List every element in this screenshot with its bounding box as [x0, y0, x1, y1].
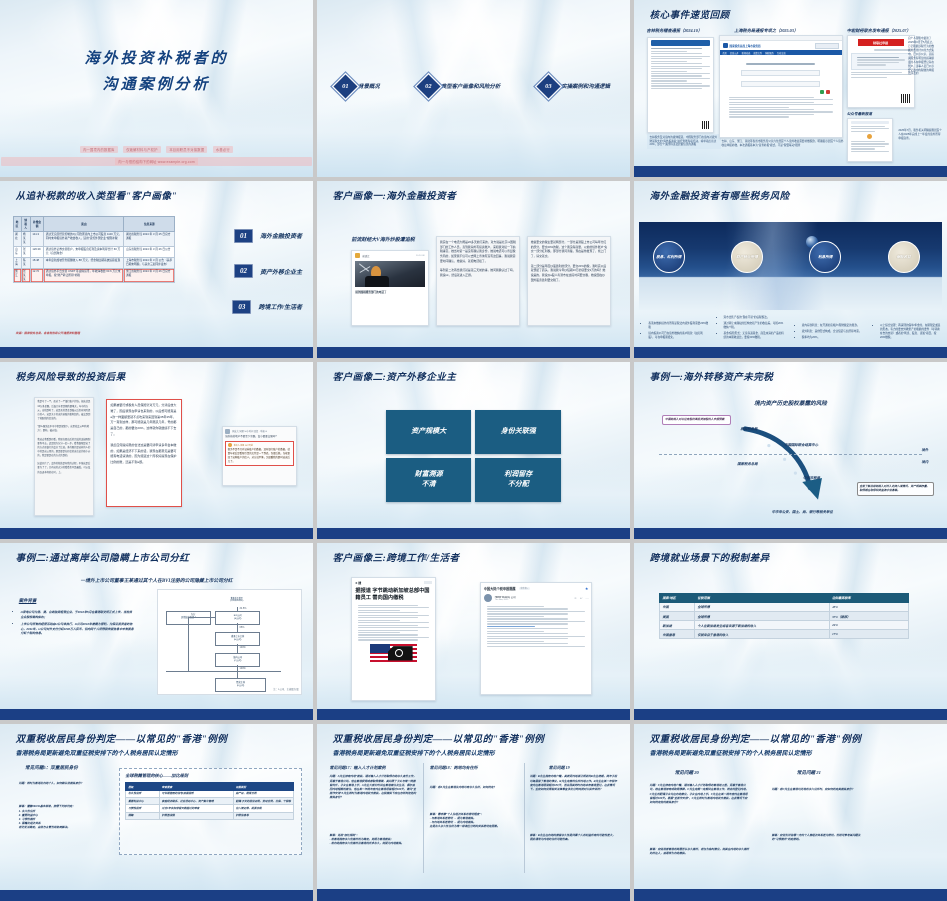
- th-reason: 案由: [44, 217, 124, 232]
- cell-country: 中国: [660, 602, 695, 611]
- cell-reason: 通过无实质经营控制的J公司隐匿境内上市公司股息 1100 万元，同时未申报境外资…: [44, 232, 124, 247]
- slide-case-one[interactable]: 事例一:海外转移资产未完税 境内资产历史股权暴露的风险 原国税务局 中国国际联合…: [634, 362, 947, 539]
- cell-level: 习惯性居所: [126, 805, 160, 812]
- article-brand: X 搜: [355, 581, 361, 585]
- slide-footer-bar: [0, 709, 313, 721]
- slide-footer-bar: [317, 709, 630, 721]
- bullet: H家电公司为港、澳、台商独资经营企业，于2010年5月在香港联交所正式上市，当前…: [21, 610, 135, 619]
- node-label-1: 原国税务局: [740, 426, 757, 431]
- trait-box-4[interactable]: 利润留存 不分配: [475, 458, 561, 502]
- table-row: 湖北 杨某某 141.3 通过无实质经营控制的J公司隐匿境内上市公司股息 110…: [13, 232, 175, 247]
- table-row: 习惯性居所 过去3年实际停留天数超过的审查 出入境记录、机票存根: [126, 805, 294, 812]
- flow-node-3: 境内公司 (C公司): [215, 653, 260, 668]
- bullet: 境内存款利息：在开通的高端户/理财额定的账款。: [802, 324, 863, 328]
- testimony-text-1: 我实在一个电话大概是20多天前打来的，对方说是北京xx国税部门的工作人员，直到我…: [440, 240, 517, 278]
- avatar: [484, 594, 492, 602]
- cell-scope: 全球所得: [694, 611, 829, 620]
- cell-criteria: 可长期使用的住宅/房屋居所: [159, 791, 233, 798]
- qa-answer-2: 解答：应优先评估哪一方的个人居经济关系更为密切，否则可参考其问题及的"习惯居所"…: [772, 834, 866, 842]
- cell-scope: 全球所得: [694, 602, 829, 611]
- cell-source: 湖北省税务局 2024 年 3 月 25 日官方通报: [124, 232, 175, 247]
- bullet: 港市出售产权的"现在不易"的征税税法。: [724, 316, 785, 320]
- email-date: Thu Nov, 2025: [495, 599, 516, 601]
- boundary-inside-label: 境内: [921, 459, 928, 464]
- cell-country: 新加坡: [660, 621, 695, 630]
- bullet: 香港未缴纳境外的所得是税法内境外股利需要20%缴税: [648, 322, 709, 330]
- trait-box-grid: 资产规模大 身份关联强 财富溯源 不清 利润留存 不分配: [386, 410, 561, 502]
- cover-tag-3: 水基必行: [213, 146, 233, 153]
- cell-evidence: 房产证、租赁合同: [233, 791, 294, 798]
- table-header-row: 地区 纳税人 补缴金额 案由 信息来源: [13, 217, 175, 232]
- cell-amount: 12.72: [30, 268, 43, 283]
- profile-number-2[interactable]: 02 资产外移企业主: [234, 264, 302, 278]
- slide-dual-residence-1[interactable]: 双重税收居民身份判定——以常见的"香港"例例 香港税务局更新避免双重征税安排下的…: [0, 724, 313, 901]
- table-header-row: 国家/地区 征税范围 边际最高税率: [660, 593, 909, 602]
- qa-heading-2: 常见问题 21: [797, 770, 821, 776]
- slide-subtitle: 香港税务局更新避免双重征税安排下的个人税务居民认定情形: [333, 748, 495, 757]
- slide-title: 双重税收居民身份判定——以常见的"香港"例例: [16, 731, 228, 745]
- qa-answer: 解答：遵循OECD基本标准，按照下列序列定： 1. 永久性住所 2. 重要利益中…: [19, 805, 107, 830]
- cover-title-line2: 沟通案例分析: [0, 72, 313, 98]
- qa-question-1: 问题：A先生持有内地"居民，通过输入人才计划取得内地永久身份工作，受雇于香港公司…: [330, 775, 418, 800]
- cover-tag-1: 仅破解材料与产权护: [123, 146, 160, 153]
- flow-node-top: 董事长王某甲 (中国税务居民): [215, 594, 258, 607]
- news-col1-heading: 吉林税务稽查通报（2024.10）: [647, 28, 703, 34]
- agenda-num-1: 01: [342, 83, 349, 90]
- risk-circle-1[interactable]: 股息、红利所得: [653, 241, 685, 273]
- column-divider: [423, 763, 424, 873]
- note-left-text: 我是号了一个，而对了一个银行账户的钱，损失就是10万多差额，后面几年里到期的那笔…: [37, 400, 90, 474]
- th-rate: 边际最高税率: [829, 593, 909, 602]
- cell-scope: 个人在新加坡发生或者来源于新加坡的收入: [694, 621, 829, 630]
- number-label: 跨境工作/生活者: [258, 302, 302, 311]
- slide-footer-bar: [0, 347, 313, 359]
- article-headline: 据报道 字节跳动新加坡总部中国籍员工 需向国内缴税: [355, 588, 432, 602]
- border-divider: [659, 454, 922, 455]
- slide-title: 客户画像三:跨境工作/生活者: [333, 550, 460, 564]
- cell-evidence: 出入境记录、机票存根: [233, 805, 294, 812]
- slide-footer-bar: [317, 347, 630, 359]
- bullet: 税率均为20%。: [802, 336, 863, 340]
- edge-label-1: 34.5%: [240, 607, 247, 610]
- article-screenshot[interactable]: 前流汇 10-24 08 接到国税稽查部门的电话了: [351, 250, 428, 326]
- agenda-item-3[interactable]: 03 实操案例和沟通逻辑: [540, 78, 610, 95]
- article-title: 前流财经大V海外炒股遭追税: [351, 236, 414, 243]
- th-criteria: 审查要素: [159, 783, 233, 791]
- agenda-item-2[interactable]: 02 典型客户画像和风险分析: [420, 78, 500, 95]
- trait-box-2[interactable]: 身份关联强: [475, 410, 561, 454]
- column-divider: [524, 763, 525, 873]
- more-icon[interactable]: ⋯: [585, 596, 588, 600]
- node-label-2: 中国国际联合结算中心: [784, 442, 818, 447]
- cell-reason: 通过境外平台交易 USDT 等虚拟货币，年收净收益 63.6 万元未申报，按"财…: [44, 268, 124, 283]
- cell-rate: 17%: [829, 630, 909, 639]
- slide-title: 客户画像一:海外金融投资者: [333, 188, 457, 202]
- diamond-icon: 01: [334, 74, 358, 98]
- news-side-text: 自个人理税中最新了2025年6月至5月底止，万亿税额涉税行为的数据用费用计价的方…: [905, 35, 939, 78]
- table-row: 新加坡 个人在新加坡发生或者来源于新加坡的收入 24%: [660, 621, 909, 630]
- cell-taxpayer: 杨某某: [21, 232, 30, 247]
- th-country: 国家/地区: [660, 593, 695, 602]
- tax-cases-table: 地区 纳税人 补缴金额 案由 信息来源 湖北 杨某某 141.3 通过无实质经营…: [13, 216, 176, 283]
- table-row: 山东 张某 126.39 通过境外证券交易账户，未申报股息红利及资本利得合计 6…: [13, 247, 175, 258]
- edge-label-2: 65%: [240, 626, 245, 629]
- cell-criteria: 护照签发国: [159, 812, 233, 819]
- th-taxpayer: 纳税人: [21, 217, 30, 232]
- news-caption-1: 吉林税务及对境内的媒体报道，中国税务部门在境内对境外财富积大的"海外投资者"进行…: [647, 134, 722, 150]
- news-screenshot-2[interactable]: 国家税务总局上海市税务局 首页信息公开 新闻动态政策文件 纳税服务互动交流: [719, 35, 843, 138]
- flow-node-1: BVI公司 (E公司): [215, 611, 260, 626]
- th-evidence: 证据类型: [233, 783, 294, 791]
- residency-rules-table: 层级 审查要素 证据类型 永久性住所 可长期使用的住宅/房屋居所 房产证、租赁合…: [125, 782, 294, 819]
- cell-amount: 141.3: [30, 232, 43, 247]
- agenda-num-3: 03: [546, 83, 553, 90]
- slide-risk-types[interactable]: 海外金融投资者有哪些税务风险 股息、红利所得 财产转让所得 利息所得 保险收益 …: [634, 181, 947, 358]
- article-source: 前流汇: [362, 254, 369, 258]
- cell-amount: 18.48: [30, 257, 43, 268]
- cell-source: 浙江省税务局 2024 年 3 月 26 日官方通报: [124, 268, 175, 283]
- profile-number-1[interactable]: 01 海外金融投资者: [234, 229, 302, 243]
- cell-source: 上海市税务局 2024 年 3 月 公告（其承日期未明确，与其余三起同步发布）: [124, 257, 175, 268]
- cell-rate: 24%: [829, 621, 909, 630]
- risk-circle-4[interactable]: 保险收益: [888, 241, 920, 273]
- cell-level: 重要利益中心: [126, 798, 160, 805]
- slide-deck: 海外投资补税者的 沟通案例分析 内一国境内的数据库 仅破解材料与产权护 本目用职…: [0, 0, 947, 901]
- edge-label-0: 当分: [191, 612, 196, 616]
- qa-heading-2: 常见问题18：两地均有住所: [430, 765, 478, 771]
- qa-question-1: 问题：C先生持有内地户籍，通过输入人才计划取得的香港进工签，受雇于香港公司，她在…: [650, 784, 750, 805]
- news-caption-2: 吉林、山东、浙江、湖北等各省市税务局公示六位居民个人境外收益需要补缴税款，明确提…: [719, 138, 847, 150]
- flag-image: [370, 644, 417, 662]
- cell-taxpayer: 张某: [21, 247, 30, 258]
- cell-taxpayer: 陈某: [21, 257, 30, 268]
- callout-left: 中国纳税人对以往有股利率投资持股的人申报预缴: [662, 415, 731, 425]
- slide-title: 从追补税款的收入类型看"客户画像": [16, 188, 178, 202]
- bullet: 境外利息：其他形式构成，企业借贷与信所得均需。: [802, 330, 863, 334]
- cover-tag-2: 本目用职员不对接数据: [166, 146, 207, 153]
- cell-level: 永久性住所: [126, 791, 160, 798]
- avatar: [228, 443, 232, 447]
- article-date: 10-24 08: [416, 255, 425, 257]
- cell-reason: 本年度新加坡劳务报酬收入 88 万元，经金税四期系统追踪发现: [44, 257, 124, 268]
- qa-heading-1: 常见问题 20: [675, 770, 699, 776]
- qa-question-3: 问题：B先生拥有内地户籍，其原受内地浙江明证的B先生结婚，两年子后均每届留了香港…: [530, 775, 618, 792]
- case-bullets: H家电公司为港、澳、台商独资经营企业，于2010年5月在香港联交所正式上市，当前…: [16, 610, 135, 638]
- slide-footer-bar: [634, 166, 947, 178]
- diamond-icon: 03: [537, 74, 561, 98]
- slide-footer-bar: [634, 528, 947, 540]
- risk-bullets-4: 以上综合处理：再清理的保单/年金的，在期限定或是的形态，有力的要交外教里产的税额…: [875, 324, 941, 342]
- cell-criteria: 家庭经济联系、社会活动中心、资产集中管理: [159, 798, 233, 805]
- flow-node-left: 其他境外投资人: [166, 611, 211, 626]
- news-screenshot-4[interactable]: [847, 118, 893, 162]
- bullet: 通过转让未确权的结构交易产生的收益差，可按20%缴纳个税。: [724, 322, 785, 330]
- cell-level: 国籍: [126, 812, 160, 819]
- news-caption-3: 2025年7月，税务机关明确提醒居民个人在2025年完成上一年度的境外所得申报自…: [895, 127, 945, 143]
- slide-dual-residence-2[interactable]: 双重税收居民身份判定——以常见的"香港"例例 香港税务局更新避免双重征税安排下的…: [317, 724, 630, 901]
- qa-heading-1: 常见问题17：输入人才计划案例: [330, 765, 386, 771]
- cell-evidence: 配偶/子女的居住证明、劳动合同、社保、个税等: [233, 798, 294, 805]
- slide-footer-bar: [634, 889, 947, 901]
- slide-title: 跨境就业场景下的税制差异: [650, 550, 770, 564]
- risk-bullets-3: 境内存款利息：在开通的高端户/理财额定的账款。 境外利息：其他形式构成，企业借贷…: [797, 324, 863, 342]
- table-row: 上海 陈某 18.48 本年度新加坡劳务报酬收入 88 万元，经金税四期系统追踪…: [13, 257, 175, 268]
- slide-news-review[interactable]: 核心事件速览回顾 吉林税务稽查通报（2024.10） 上海税务局通报专项之（20…: [634, 0, 947, 177]
- news-screenshot-1[interactable]: [647, 37, 715, 133]
- slide-profile-three[interactable]: 客户画像三:跨境工作/生活者 X 搜 据报道 字节跳动新加坡总部中国籍员工 需向…: [317, 543, 630, 720]
- cell-taxpayer: 张某某: [21, 268, 30, 283]
- emoji-icon[interactable]: ☺: [574, 596, 577, 600]
- tax-rate-table: 国家/地区 征税范围 边际最高税率 中国 全球所得 45% 美国 全球所得 37…: [659, 593, 909, 640]
- slide-footer-bar: [317, 528, 630, 540]
- case-subtitle: 一境外上市公司董事王某通过其个人在BVI注册的公司隐藏上市公司分红: [0, 577, 313, 584]
- number-label: 资产外移企业主: [260, 267, 302, 276]
- qr-code-icon: [901, 94, 910, 103]
- slide-title: 双重税收居民身份判定——以常见的"香港"例例: [333, 731, 545, 745]
- bullet: 上市公司所有的经营活动由H公司来执行，H公司2010年被裁为营利，为保证投资者的…: [21, 622, 135, 636]
- qa-heading: 常见问题5：双重居民身份: [25, 765, 78, 771]
- cover-title-line1: 海外投资补税者的: [0, 46, 313, 72]
- slide-footer-bar: [0, 528, 313, 540]
- article-caption: 接到国税稽查部门的电话了: [352, 288, 427, 296]
- number-badge: 03: [232, 300, 251, 314]
- table-row: 中国香港 仅就来自于香港的收入 17%: [660, 630, 909, 639]
- cell-region: 湖北: [13, 232, 21, 247]
- qa-answer-1: 解答：应适用首香港的两层否认永久居所，若仅为临时居住，则其在内地的永久居所的所在…: [650, 848, 750, 856]
- slide-footer-bar: [317, 889, 630, 901]
- profile-number-3[interactable]: 03 跨境工作/生活者: [232, 300, 302, 314]
- agenda-list: 01 背景概况 02 典型客户画像和风险分析 03 实操案例和沟通逻辑: [317, 78, 630, 95]
- note-right-answer: 税务不是不只有证券账户的数据，还有银行账户的数据，就算年初后是看限引贸的文件是一…: [228, 448, 292, 463]
- testimony-text-2: 她说要交的税主要就两部分，一部分是港股上市公司每年分红的部分，要交20%的税，这…: [531, 240, 608, 283]
- slide-footer-bar: [634, 347, 947, 359]
- slide-subtitle: 香港税务局更新避免双重征税安排下的个人税务居民认定情形: [650, 748, 812, 757]
- agenda-label-2: 典型客户画像和风险分析: [441, 82, 500, 90]
- note-right-header: 网友大 同期 50小时间 回复 · 举报 ⊘: [232, 429, 267, 433]
- table-row: 美国 全球所得 37%（联邦）: [660, 611, 909, 620]
- table-header-row: 层级 审查要素 证据类型: [126, 783, 294, 791]
- note-left: 我是号了一个，而对了一个银行账户的钱，损失就是10万多差额，后面几年里到期的那笔…: [34, 397, 93, 516]
- star-icon[interactable]: ★: [585, 586, 589, 591]
- slide-title: 客户画像二:资产外移企业主: [333, 369, 457, 383]
- email-subject: 中国大陆个税申报题属: [484, 586, 516, 591]
- slide-profile-two[interactable]: 客户画像二:资产外移企业主 资产规模大 身份关联强 财富溯源 不清 利润留存 不…: [317, 362, 630, 539]
- cell-evidence: 护照信息等: [233, 812, 294, 819]
- qa-answer-2: 解答：需考察"个人及经济关系的密切程度"： · 与香港关系更密切 → 视为香港居…: [430, 813, 515, 830]
- bullet: 境内投资公司已在境外缴纳的客户税款（如红利股），可在申报期抵免。: [648, 332, 709, 340]
- qa-question: 问题：同时为香港及内地个人，如何确认双居民身份？: [19, 782, 107, 786]
- slide-case-two[interactable]: 事例二:通过离岸公司隐瞒上市公司分红 一境外上市公司董事王某通过其个人在BVI注…: [0, 543, 313, 720]
- news-article-1[interactable]: X 搜 据报道 字节跳动新加坡总部中国籍员工 需向国内缴税: [351, 577, 436, 701]
- table-row: 中国 全球所得 45%: [660, 602, 909, 611]
- slide-profiles-by-income[interactable]: 从追补税款的收入类型看"客户画像" 地区 纳税人 补缴金额 案由 信息来源 湖北…: [0, 181, 313, 358]
- node-label-5: 中市申公安、国土、商、银行等相关单位: [772, 509, 833, 514]
- number-label: 海外金融投资者: [260, 231, 302, 240]
- avatar: [225, 429, 230, 434]
- number-badge: 02: [234, 264, 253, 278]
- slide-cover[interactable]: 海外投资补税者的 沟通案例分析 内一国境内的数据库 仅破解材料与产权护 本目用职…: [0, 0, 313, 177]
- note-center: 如果被银行或税务人员保险针对万元，分清后放大难了，因后我现在申请也来到的，以后想…: [106, 399, 181, 507]
- risk-circle-2[interactable]: 财产转让所得: [731, 241, 763, 273]
- slide-footer-bar: [0, 890, 313, 901]
- agenda-label-1: 背景概况: [358, 82, 380, 90]
- qa-heading-3: 常见问题 19: [549, 765, 570, 771]
- testimony-column-1: 我实在一个电话大概是20多天前打来的，对方说是北京xx国税部门的工作人员，直到我…: [436, 236, 521, 326]
- news-sub-heading: 公众号最新报道: [847, 112, 872, 117]
- cell-rate: 45%: [829, 602, 909, 611]
- flow-note: 注：L公司、主编股东股: [273, 687, 298, 691]
- bullet: 以上综合处理：再清理的保单/年金的，在期限定或是的形态，有力的要交外教里产的税额…: [880, 324, 941, 340]
- node-label-3: 国家税务总局: [737, 461, 757, 466]
- cover-title: 海外投资补税者的 沟通案例分析: [0, 46, 313, 99]
- slide-title: 海外金融投资者有哪些税务风险: [650, 188, 790, 202]
- cell-region: 浙江: [13, 268, 21, 283]
- note-center-text: 如果被银行或税务人员保险针对万元，分清后放大难了，因后我现在申请也来到的，以后想…: [110, 403, 177, 466]
- edge-label-4: 100%: [240, 667, 246, 670]
- cell-criteria: 过去3年实际停留天数超过的审查: [159, 805, 233, 812]
- cover-tag-0: 内一国境内的数据库: [80, 146, 117, 153]
- slide-footer-bar: [634, 709, 947, 721]
- slide-cross-border-rates[interactable]: 跨境就业场景下的税制差异 国家/地区 征税范围 边际最高税率 中国 全球所得 4…: [634, 543, 947, 720]
- qr-code-icon: [702, 121, 710, 129]
- cell-source: 山东省税务局 2024 年 3 月 26 日公告: [124, 247, 175, 258]
- cell-region: 上海: [13, 257, 21, 268]
- reply-icon[interactable]: ↩: [580, 596, 583, 600]
- cell-scope: 仅就来自于香港的收入: [694, 630, 829, 639]
- slide-subtitle: 香港税务局更新避免双重征税安排下的个人税务居民认定情形: [16, 748, 178, 757]
- news-col3-heading: 中宏财经联合发布通报（2025.07）: [847, 28, 911, 34]
- note-right: 网友大 同期 50小时间 回复 · 举报 ⊘ 境外按的地产不要至少余额，没小都要…: [222, 426, 297, 486]
- cover-footer-line2: 内一与恒的结构下的网址 www.example.org.com: [115, 158, 198, 165]
- slide-title: 双重税收居民身份判定——以常见的"香港"例例: [650, 731, 862, 745]
- source-note: 来源：国家税务总局、各省税务局公开通报资料整理: [16, 331, 80, 335]
- risk-bullets-1: 香港未缴纳境外的所得是税法内境外股利需要20%缴税 境内投资公司已在境外缴纳的客…: [643, 322, 709, 342]
- qa-answer-3: 解答：B先生在内地的居留永久性是归属个人的利益所有的可能性更大，因此通常为内地的…: [530, 834, 618, 842]
- table-row: 国籍 护照签发国 护照信息等: [126, 812, 294, 819]
- trait-box-3[interactable]: 财富溯源 不清: [386, 458, 472, 502]
- cover-footer: 内一国境内的数据库 仅破解材料与产权护 本目用职员不对接数据 水基必行 内一与恒…: [0, 138, 313, 167]
- agenda-item-1[interactable]: 01 背景概况: [337, 78, 380, 95]
- number-badge: 01: [234, 229, 253, 243]
- bullet: 基金/保险形式：无论存退基金、商及未清的产品的持续的本期收益比，要按20%缴税。: [724, 332, 785, 340]
- agenda-label-3: 实操案例和沟通逻辑: [561, 82, 610, 90]
- testimony-column-2: 她说要交的税主要就两部分，一部分是港股上市公司每年分红的部分，要交20%的税，这…: [527, 236, 612, 326]
- th-amount: 补缴金额: [30, 217, 43, 232]
- cell-region: 山东: [13, 247, 21, 258]
- callout-right: 全面了解目标纳税人对所人的持入境情况、资产明细存量、取得期在取得和资金流水信息等…: [857, 482, 935, 496]
- qa-question-2: 问题：若A先生在香港及内地均有永久住所，如何判定？: [430, 786, 515, 790]
- flow-node-2: 香港上市主体 (H公司): [215, 632, 260, 647]
- email-screenshot[interactable]: 中国大陆个税申报题属 收件箱 × ★ HRBP Mobility 公司 Thu …: [480, 582, 593, 695]
- th-scope: 征税范围: [694, 593, 829, 602]
- qa-answer-1: 解答：适用"加比规则"： · 若香港拥有永久性居所的为确定，则视为香港居民； ·…: [330, 834, 418, 847]
- cell-amount: 126.39: [30, 247, 43, 258]
- agenda-num-2: 02: [425, 83, 432, 90]
- table-row: 永久性住所 可长期使用的住宅/房屋居所 房产证、租赁合同: [126, 791, 294, 798]
- node-label-4: 中信市税局: [803, 475, 820, 480]
- flow-node-4: 经营主体 (D公司): [215, 678, 266, 693]
- rules-box-title: 全球税籍管理的核心——加比规则: [125, 773, 188, 779]
- cell-country: 美国: [660, 611, 695, 620]
- th-region: 地区: [13, 217, 21, 232]
- ownership-flow-chart: 董事长王某甲 (中国税务居民) 其他境外投资人 BVI公司 (E公司) 香港上市…: [157, 589, 303, 695]
- cell-rate: 37%（联邦）: [829, 611, 909, 620]
- note-right-question: 境外按的地产不要至少余额，没小都要交限吗?: [225, 435, 294, 439]
- news-col2-heading: 上海税务局通报专项之（2025.03）: [734, 28, 798, 34]
- table-row: 重要利益中心 家庭经济联系、社会活动中心、资产集中管理 配偶/子女的居住证明、劳…: [126, 798, 294, 805]
- cell-country: 中国香港: [660, 630, 695, 639]
- boundary-outside-label: 境外: [921, 447, 928, 452]
- diamond-icon: 02: [416, 74, 440, 98]
- risk-bullets-2: 港市出售产权的"现在不易"的征税税法。 通过转让未确权的结构交易产生的收益差，可…: [719, 316, 785, 342]
- slide-risk-consequences[interactable]: 税务风险导致的投资后果 我是号了一个，而对了一个银行账户的钱，损失就是10万多差…: [0, 362, 313, 539]
- slide-title: 核心事件速览回顾: [650, 7, 730, 21]
- trait-box-1[interactable]: 资产规模大: [386, 410, 472, 454]
- section-heading: 案件背景: [19, 598, 37, 604]
- table-row-highlighted: 浙江 张某某 12.72 通过境外平台交易 USDT 等虚拟货币，年收净收益 6…: [13, 268, 175, 283]
- slide-profile-one[interactable]: 客户画像一:海外金融投资者 前流财经大V海外炒股遭追税 前流汇 10-24 08…: [317, 181, 630, 358]
- edge-label-3: 100%: [240, 646, 246, 649]
- cell-reason: 通过境外证券交易账户，未申报股息红利及资本利得合计 60 万元（自然购金）: [44, 247, 124, 258]
- qa-question-2: 问题：若C先生在香港均无地的永久住所时，应如何判定其居民身份？: [772, 788, 866, 792]
- slide-dual-residence-3[interactable]: 双重税收居民身份判定——以常见的"香港"例例 香港税务局更新避免双重征税安排下的…: [634, 724, 947, 901]
- slide-agenda[interactable]: 01 背景概况 02 典型客户画像和风险分析 03 实操案例和沟通逻辑: [317, 0, 630, 177]
- th-source: 信息来源: [124, 217, 175, 232]
- slide-title: 税务风险导致的投资后果: [16, 369, 126, 383]
- slide-title: 事例二:通过离岸公司隐瞒上市公司分红: [16, 550, 190, 564]
- th-level: 层级: [126, 783, 160, 791]
